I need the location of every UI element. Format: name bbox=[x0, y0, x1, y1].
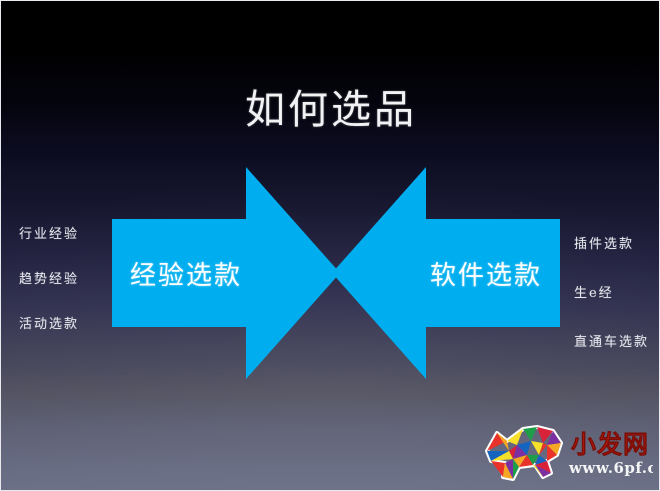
left-arrow-shape: 经验选款 bbox=[112, 167, 340, 379]
left-list-item-1: 行业经验 bbox=[19, 223, 79, 242]
right-list-item-1: 插件选款 bbox=[574, 233, 649, 252]
slide-canvas: 如何选品 经验选款 软件选款 行业经验 趋势经验 活动选款 插件选款 生e经 直… bbox=[0, 0, 660, 491]
page-title: 如何选品 bbox=[1, 77, 660, 135]
left-list-item-2: 趋势经验 bbox=[19, 268, 79, 287]
watermark-svg: 小发网 www.6pf.cn bbox=[475, 417, 653, 485]
watermark-brand-text: 小发网 bbox=[571, 430, 649, 459]
bull-icon bbox=[487, 427, 561, 479]
watermark-url-text: www.6pf.cn bbox=[568, 459, 653, 477]
right-arrow-shape: 软件选款 bbox=[332, 167, 560, 379]
right-pointing-arrow-icon bbox=[112, 167, 340, 379]
left-pointing-arrow-icon bbox=[332, 167, 560, 379]
right-list-item-3: 直通车选款 bbox=[574, 331, 649, 350]
left-label-list: 行业经验 趋势经验 活动选款 bbox=[19, 223, 79, 358]
watermark-logo: 小发网 www.6pf.cn bbox=[475, 417, 653, 485]
right-list-item-2: 生e经 bbox=[574, 282, 649, 301]
left-list-item-3: 活动选款 bbox=[19, 313, 79, 332]
right-label-list: 插件选款 生e经 直通车选款 bbox=[574, 233, 649, 380]
